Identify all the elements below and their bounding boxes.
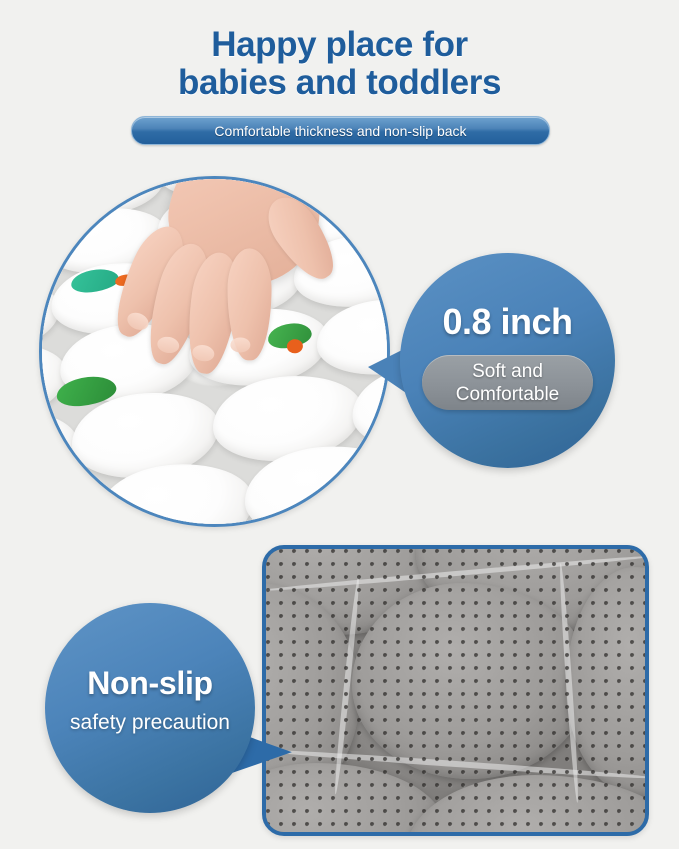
non-slip-subtitle: safety precaution <box>45 711 255 735</box>
comfort-pill: Soft andComfortable <box>422 355 593 410</box>
page-title-line-2: babies and toddlers <box>0 64 679 102</box>
page-title: Happy place for babies and toddlers <box>0 26 679 102</box>
comfort-pill-label: Soft andComfortable <box>456 360 560 406</box>
non-slip-callout-bubble <box>45 603 255 813</box>
thickness-callout: 0.8 inch Soft andComfortable <box>400 253 615 468</box>
mattress-top-photo-inner <box>42 179 387 524</box>
subtitle-banner: Comfortable thickness and non-slip back <box>131 116 550 145</box>
infographic-stage: Happy place for babies and toddlers Comf… <box>0 0 679 849</box>
subtitle-banner-label: Comfortable thickness and non-slip back <box>214 123 466 139</box>
page-title-line-1: Happy place for <box>211 25 468 64</box>
hand-pressing <box>99 179 369 401</box>
non-slip-fabric <box>266 549 645 832</box>
comfort-pill-line-2: Comfortable <box>456 384 560 405</box>
non-slip-dots <box>266 549 645 832</box>
comfort-pill-line-1: Soft and <box>472 361 543 382</box>
thickness-value: 0.8 inch <box>400 301 615 343</box>
non-slip-callout: Non-slip safety precaution <box>45 603 255 813</box>
mattress-top-photo <box>39 176 390 527</box>
mattress-bottom-photo <box>262 545 649 836</box>
non-slip-title: Non-slip <box>45 665 255 702</box>
quilted-surface <box>42 179 387 524</box>
